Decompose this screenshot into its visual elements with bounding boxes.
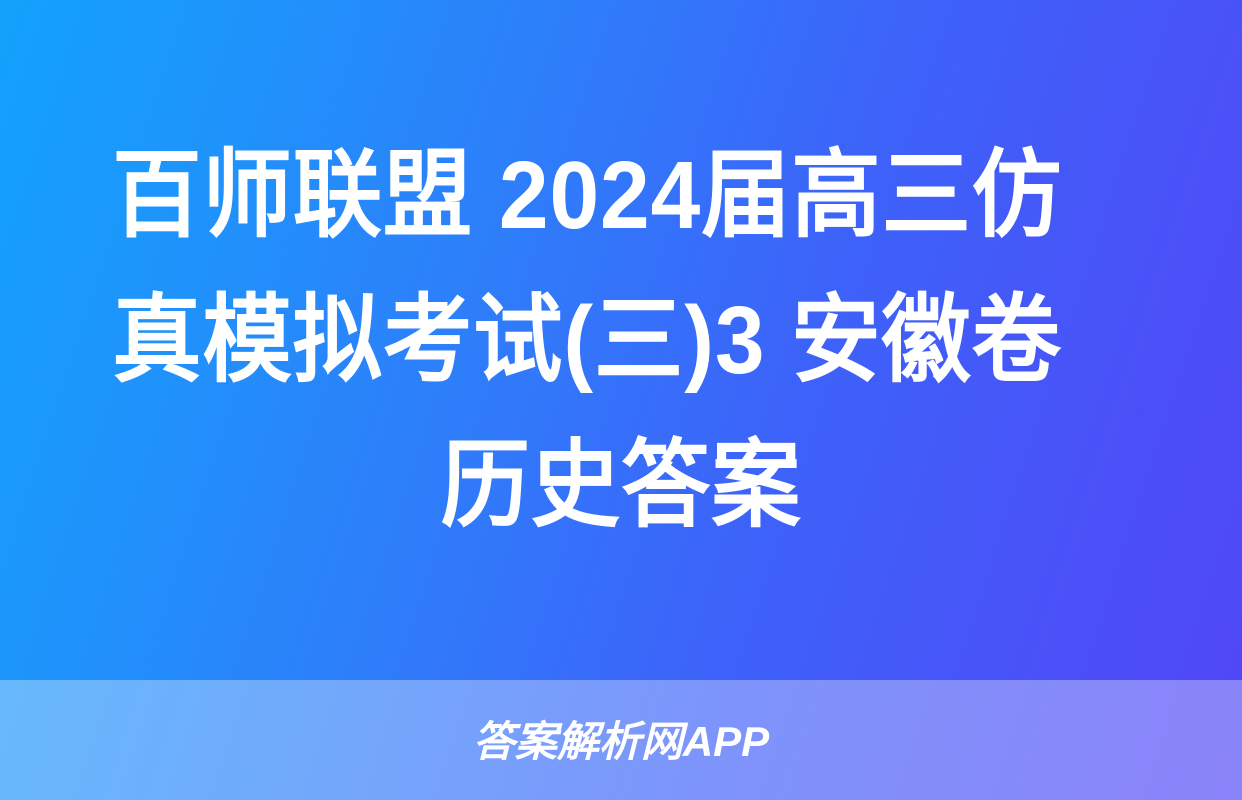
watermark-label: 答案解析网APP (473, 721, 769, 763)
title-line-1: 百师联盟 2024届高三仿 (112, 123, 1129, 268)
title-block: 百师联盟 2024届高三仿 真模拟考试(三)3 安徽卷 历史答案 (0, 0, 1242, 680)
title-line-3: 历史答案 (112, 413, 1129, 558)
poster-canvas: 百师联盟 2024届高三仿 真模拟考试(三)3 安徽卷 历史答案 答案解析网AP… (0, 0, 1242, 800)
footer-band: 答案解析网APP (0, 680, 1242, 800)
title-line-2: 真模拟考试(三)3 安徽卷 (112, 268, 1129, 413)
